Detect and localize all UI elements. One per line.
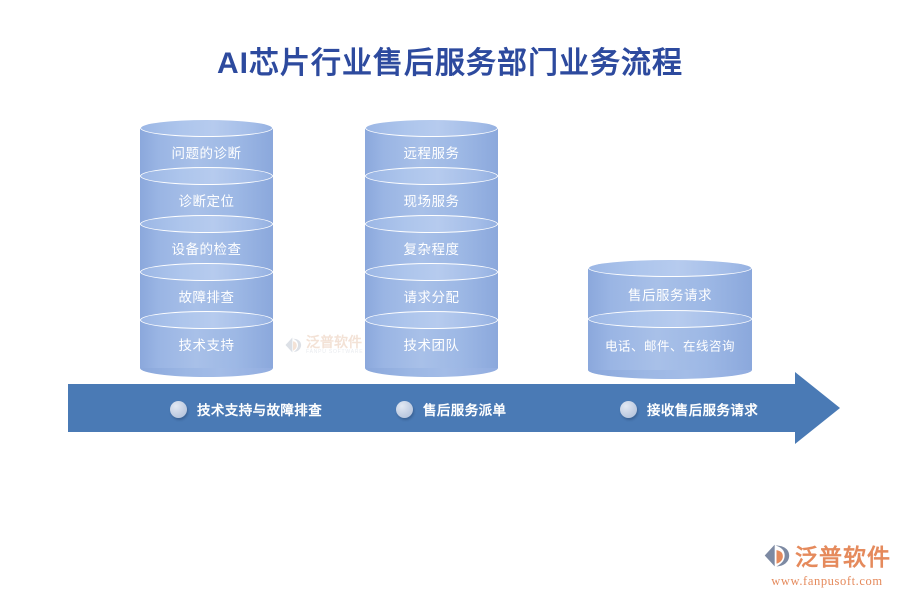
- segment-label: 设备的检查: [140, 238, 273, 258]
- page-title: AI芯片行业售后服务部门业务流程: [0, 38, 900, 82]
- step-bullet-icon: [396, 401, 413, 418]
- logo-brand-cn: 泛普软件: [795, 538, 891, 572]
- watermark-brand-cn: 泛普软件: [306, 335, 363, 349]
- cylinder-stack-service-request: 售后服务请求 电话、邮件、在线咨询: [588, 268, 752, 370]
- segment-label: 技术团队: [365, 334, 498, 354]
- process-step[interactable]: 售后服务派单: [396, 396, 506, 422]
- segment-label: 售后服务请求: [588, 284, 752, 304]
- segment-label: 诊断定位: [140, 190, 273, 210]
- watermark-text: 泛普软件 FANPU SOFTWARE: [306, 335, 363, 355]
- process-step[interactable]: 接收售后服务请求: [620, 396, 758, 422]
- segment-rim: [140, 167, 273, 185]
- segment-rim: [140, 119, 273, 137]
- brand-logo: 泛普软件 www.fanpusoft.com: [762, 538, 892, 586]
- segment-label: 技术支持: [140, 334, 273, 354]
- segment-rim: [365, 215, 498, 233]
- segment-rim: [140, 263, 273, 281]
- segment-rim: [365, 167, 498, 185]
- segment-label: 现场服务: [365, 190, 498, 210]
- segment-rim: [140, 311, 273, 329]
- segment-label: 远程服务: [365, 142, 498, 162]
- step-label: 技术支持与故障排查: [197, 399, 322, 419]
- segment-label: 故障排查: [140, 286, 273, 306]
- segment-label: 复杂程度: [365, 238, 498, 258]
- step-label: 售后服务派单: [423, 399, 506, 419]
- step-bullet-icon: [170, 401, 187, 418]
- watermark-brand-en: FANPU SOFTWARE: [306, 350, 363, 355]
- segment-rim: [588, 310, 752, 328]
- cylinder-stack-service-dispatch: 远程服务 现场服务 复杂程度 请求分配 技术团队: [365, 128, 498, 368]
- segment-label: 问题的诊断: [140, 142, 273, 162]
- segment-rim: [588, 259, 752, 277]
- flowchart-canvas: AI芯片行业售后服务部门业务流程 问题的诊断 诊断定位 设备的检查 故障排查 技…: [0, 0, 900, 600]
- cylinder-segment[interactable]: 电话、邮件、在线咨询: [588, 319, 752, 370]
- step-bullet-icon: [620, 401, 637, 418]
- segment-label: 请求分配: [365, 286, 498, 306]
- cylinder-segment[interactable]: 技术支持: [140, 320, 273, 368]
- fanpu-swoosh-icon: [762, 541, 791, 570]
- segment-label: 电话、邮件、在线咨询: [588, 335, 752, 354]
- segment-rim: [365, 311, 498, 329]
- logo-row: 泛普软件: [762, 538, 892, 572]
- logo-url: www.fanpusoft.com: [762, 574, 892, 589]
- segment-rim: [365, 263, 498, 281]
- center-watermark: 泛普软件 FANPU SOFTWARE: [283, 328, 375, 362]
- cylinder-stack-technical-support: 问题的诊断 诊断定位 设备的检查 故障排查 技术支持: [140, 128, 273, 368]
- step-label: 接收售后服务请求: [647, 399, 758, 419]
- cylinder-segment[interactable]: 技术团队: [365, 320, 498, 368]
- segment-rim: [365, 119, 498, 137]
- process-step[interactable]: 技术支持与故障排查: [170, 396, 322, 422]
- fanpu-swoosh-icon: [283, 335, 303, 355]
- segment-rim: [140, 215, 273, 233]
